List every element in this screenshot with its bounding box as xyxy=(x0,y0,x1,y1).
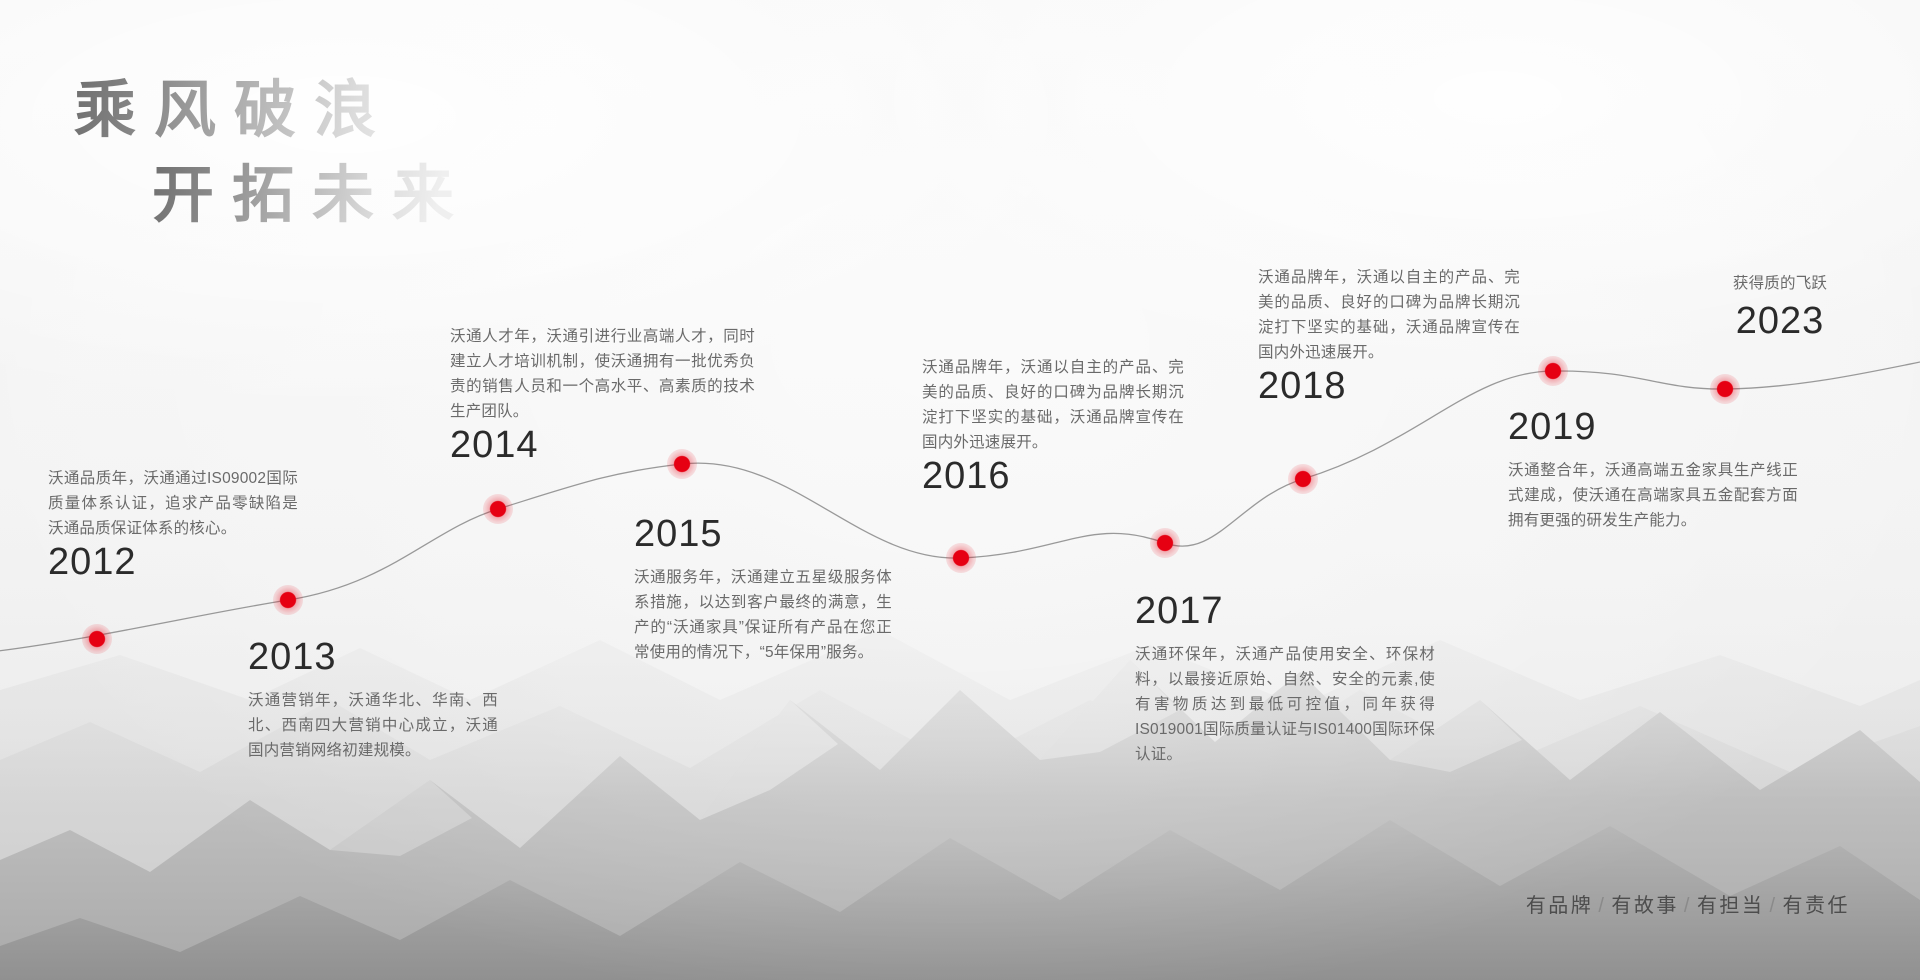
node-year-2017: 2017 xyxy=(1135,592,1435,632)
brand-tagline: 有品牌/有故事/有担当/有责任 xyxy=(1526,889,1850,918)
tagline-separator-1: / xyxy=(1593,895,1611,917)
timeline-node-2012[interactable]: 沃通品质年，沃通通过IS09002国际质量体系认证，追求产品零缺陷是沃通品质保证… xyxy=(48,466,298,593)
node-description-2015: 沃通服务年，沃通建立五星级服务体系措施，以达到客户最终的满意，生产的“沃通家具”… xyxy=(634,565,892,665)
marker-dot-2019[interactable] xyxy=(1538,356,1568,386)
headline: 乘风破浪 开拓未来 xyxy=(74,72,472,237)
node-description-2019: 沃通整合年，沃通高端五金家具生产线正式建成，使沃通在高端家具五金配套方面拥有更强… xyxy=(1508,458,1798,533)
tagline-separator-2: / xyxy=(1679,895,1697,917)
tagline-item-1: 有品牌 xyxy=(1526,895,1594,917)
marker-dot-2014[interactable] xyxy=(483,494,513,524)
node-description-2014: 沃通人才年，沃通引进行业高端人才，同时建立人才培训机制，使沃通拥有一批优秀负责的… xyxy=(450,324,755,424)
node-year-2016: 2016 xyxy=(922,457,1184,497)
headline-line-2: 开拓未来 xyxy=(152,157,472,236)
headline-line-1: 乘风破浪 xyxy=(74,72,472,151)
node-year-2012: 2012 xyxy=(48,543,298,583)
node-year-2019: 2019 xyxy=(1508,408,1798,448)
node-description-2012: 沃通品质年，沃通通过IS09002国际质量体系认证，追求产品零缺陷是沃通品质保证… xyxy=(48,466,298,541)
marker-dot-2023[interactable] xyxy=(1710,374,1740,404)
timeline-node-2015[interactable]: 2015 沃通服务年，沃通建立五星级服务体系措施，以达到客户最终的满意，生产的“… xyxy=(634,515,892,665)
marker-dot-2012[interactable] xyxy=(82,624,112,654)
node-year-2018: 2018 xyxy=(1258,367,1520,407)
tagline-separator-3: / xyxy=(1764,895,1782,917)
timeline-node-2013[interactable]: 2013 沃通营销年，沃通华北、华南、西北、西南四大营销中心成立，沃通国内营销网… xyxy=(248,638,498,763)
timeline-node-2023[interactable]: 获得质的飞跃 2023 xyxy=(1675,272,1885,352)
timeline-poster: 乘风破浪 开拓未来 沃通品质年，沃通通过IS09002国际质量体系认证，追求产品… xyxy=(0,0,1920,980)
node-description-2016: 沃通品牌年，沃通以自主的产品、完美的品质、良好的口碑为品牌长期沉淀打下坚实的基础… xyxy=(922,355,1184,455)
node-year-2013: 2013 xyxy=(248,638,498,678)
node-description-2017: 沃通环保年，沃通产品使用安全、环保材料，以最接近原始、自然、安全的元素,使有害物… xyxy=(1135,642,1435,768)
timeline-node-2016[interactable]: 沃通品牌年，沃通以自主的产品、完美的品质、良好的口碑为品牌长期沉淀打下坚实的基础… xyxy=(922,355,1184,507)
node-year-2014: 2014 xyxy=(450,426,755,466)
node-year-2023: 2023 xyxy=(1675,302,1885,342)
timeline-node-2014[interactable]: 沃通人才年，沃通引进行业高端人才，同时建立人才培训机制，使沃通拥有一批优秀负责的… xyxy=(450,324,755,476)
tagline-item-4: 有责任 xyxy=(1783,895,1851,917)
tagline-item-3: 有担当 xyxy=(1697,895,1765,917)
marker-dot-2016[interactable] xyxy=(946,543,976,573)
timeline-node-2019[interactable]: 2019 沃通整合年，沃通高端五金家具生产线正式建成，使沃通在高端家具五金配套方… xyxy=(1508,408,1798,533)
node-year-2015: 2015 xyxy=(634,515,892,555)
node-description-2018: 沃通品牌年，沃通以自主的产品、完美的品质、良好的口碑为品牌长期沉淀打下坚实的基础… xyxy=(1258,265,1520,365)
timeline-node-2018[interactable]: 沃通品牌年，沃通以自主的产品、完美的品质、良好的口碑为品牌长期沉淀打下坚实的基础… xyxy=(1258,265,1520,417)
tagline-item-2: 有故事 xyxy=(1611,895,1679,917)
node-description-2013: 沃通营销年，沃通华北、华南、西北、西南四大营销中心成立，沃通国内营销网络初建规模… xyxy=(248,688,498,763)
timeline-node-2017[interactable]: 2017 沃通环保年，沃通产品使用安全、环保材料，以最接近原始、自然、安全的元素… xyxy=(1135,592,1435,767)
marker-dot-2018[interactable] xyxy=(1288,464,1318,494)
marker-dot-2017[interactable] xyxy=(1150,528,1180,558)
node-kicker-2023: 获得质的飞跃 xyxy=(1675,272,1885,296)
